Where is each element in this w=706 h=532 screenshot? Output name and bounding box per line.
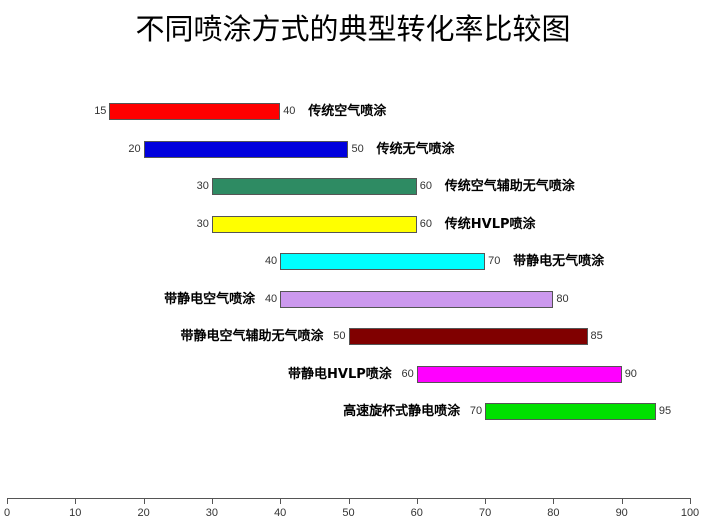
bar-end-value: 90: [622, 367, 637, 382]
bar-end-value: 85: [588, 329, 603, 344]
bar-start-value: 30: [197, 179, 212, 194]
bar[interactable]: [212, 216, 417, 233]
x-axis-tick-label: 70: [479, 507, 491, 519]
bar-row: 1540传统空气喷涂: [0, 103, 706, 123]
bar-start-value: 70: [470, 404, 485, 419]
x-axis-tick-label: 40: [274, 507, 286, 519]
chart-root: 不同喷涂方式的典型转化率比较图 1540传统空气喷涂2050传统无气喷涂3060…: [0, 0, 706, 532]
bar[interactable]: [349, 328, 588, 345]
bar-category-label: 带静电无气喷涂: [513, 253, 604, 271]
x-axis-tick: [280, 498, 281, 504]
bar-start-value: 50: [333, 329, 348, 344]
x-axis-tick: [553, 498, 554, 504]
bar[interactable]: [109, 103, 280, 120]
x-axis-tick: [349, 498, 350, 504]
bar-end-value: 60: [417, 179, 432, 194]
bar-category-label: 传统空气辅助无气喷涂: [445, 178, 575, 196]
bar-category-label: 带静电空气辅助无气喷涂: [180, 328, 323, 346]
x-axis-tick: [144, 498, 145, 504]
bar-category-label: 传统无气喷涂: [377, 141, 455, 159]
x-axis-tick-label: 10: [69, 507, 81, 519]
bar-row: 4070带静电无气喷涂: [0, 253, 706, 273]
x-axis-tick-label: 20: [137, 507, 149, 519]
bar-end-value: 95: [656, 404, 671, 419]
bar[interactable]: [485, 403, 656, 420]
bar-category-label: 带静电空气喷涂: [164, 291, 255, 309]
bar-category-label: 传统空气喷涂: [308, 103, 386, 121]
x-axis-tick-label: 80: [547, 507, 559, 519]
x-axis-tick-label: 0: [4, 507, 10, 519]
bar[interactable]: [212, 178, 417, 195]
x-axis-tick: [212, 498, 213, 504]
x-axis-tick: [417, 498, 418, 504]
x-axis-tick-label: 30: [206, 507, 218, 519]
bar-row: 7095高速旋杯式静电喷涂: [0, 403, 706, 423]
bar-start-value: 15: [94, 104, 109, 119]
bar-category-label: 高速旋杯式静电喷涂: [343, 403, 460, 421]
x-axis-tick: [690, 498, 691, 504]
plot-area: 1540传统空气喷涂2050传统无气喷涂3060传统空气辅助无气喷涂3060传统…: [0, 0, 706, 490]
x-axis-tick-label: 60: [411, 507, 423, 519]
x-axis-tick: [75, 498, 76, 504]
bar[interactable]: [280, 253, 485, 270]
bar-end-value: 80: [553, 292, 568, 307]
x-axis-tick: [622, 498, 623, 504]
bar-category-label: 传统HVLP喷涂: [445, 216, 536, 234]
bar-end-value: 50: [349, 142, 364, 157]
bar-end-value: 70: [485, 254, 500, 269]
x-axis-tick: [485, 498, 486, 504]
bar-end-value: 40: [280, 104, 295, 119]
bar[interactable]: [280, 291, 553, 308]
x-axis-tick-label: 100: [681, 507, 699, 519]
bar-start-value: 30: [197, 217, 212, 232]
bar-end-value: 60: [417, 217, 432, 232]
x-axis-tick-label: 50: [342, 507, 354, 519]
bar-start-value: 20: [128, 142, 143, 157]
bar-row: 3060传统HVLP喷涂: [0, 216, 706, 236]
x-axis-tick-label: 90: [616, 507, 628, 519]
x-axis: 0102030405060708090100: [0, 498, 706, 532]
bar[interactable]: [144, 141, 349, 158]
bar-row: 2050传统无气喷涂: [0, 141, 706, 161]
bar-start-value: 40: [265, 292, 280, 307]
bar-row: 3060传统空气辅助无气喷涂: [0, 178, 706, 198]
bar-row: 4080带静电空气喷涂: [0, 291, 706, 311]
bar-row: 5085带静电空气辅助无气喷涂: [0, 328, 706, 348]
bar-start-value: 40: [265, 254, 280, 269]
bar-category-label: 带静电HVLP喷涂: [288, 366, 392, 384]
x-axis-tick: [7, 498, 8, 504]
bar-row: 6090带静电HVLP喷涂: [0, 366, 706, 386]
bar-start-value: 60: [402, 367, 417, 382]
bar[interactable]: [417, 366, 622, 383]
